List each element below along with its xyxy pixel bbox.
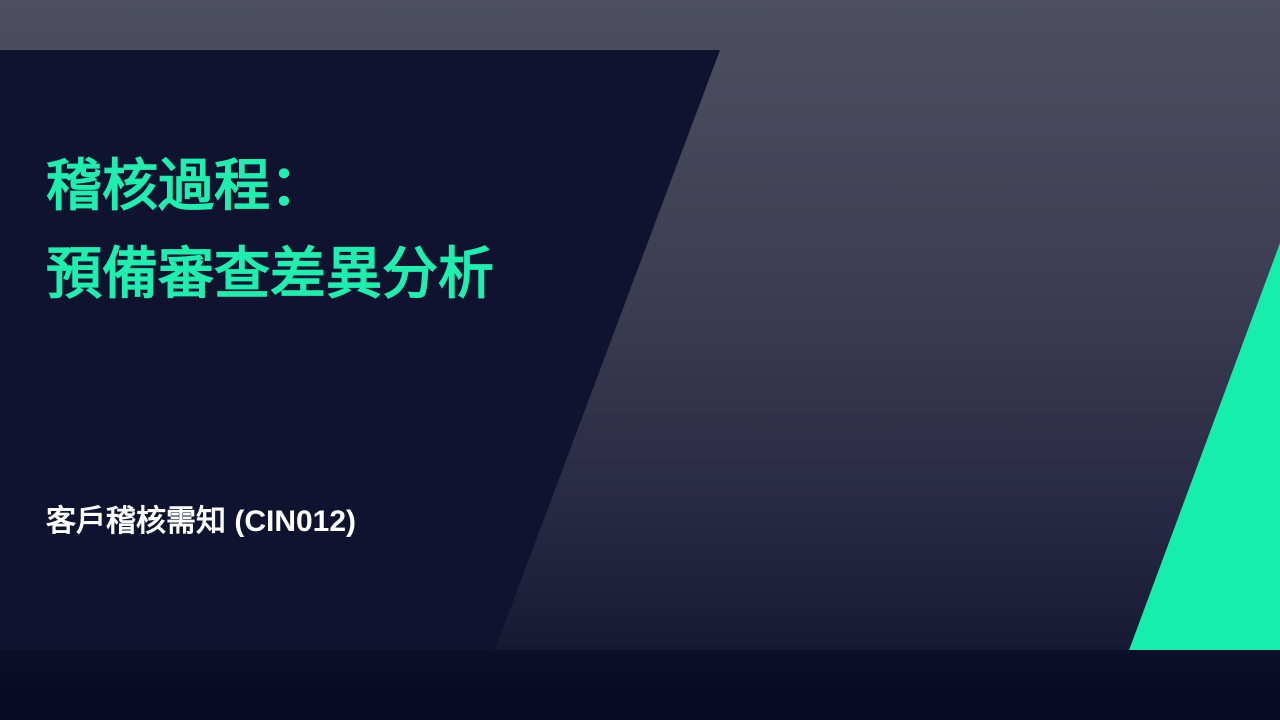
title-line-2: 預備審查差異分析 xyxy=(46,230,686,318)
page-title: 稽核過程： 預備審查差異分析 xyxy=(46,142,686,318)
title-line-1: 稽核過程： xyxy=(46,142,686,230)
page-subtitle: 客戶稽核需知 (CIN012) xyxy=(46,501,686,543)
title-slide: 稽核過程： 預備審查差異分析 客戶稽核需知 (CIN012) xyxy=(0,0,1280,720)
slide-text-layer: 稽核過程： 預備審查差異分析 客戶稽核需知 (CIN012) xyxy=(0,0,1280,720)
subtitle-text: 客戶稽核需知 (CIN012) xyxy=(46,501,686,543)
